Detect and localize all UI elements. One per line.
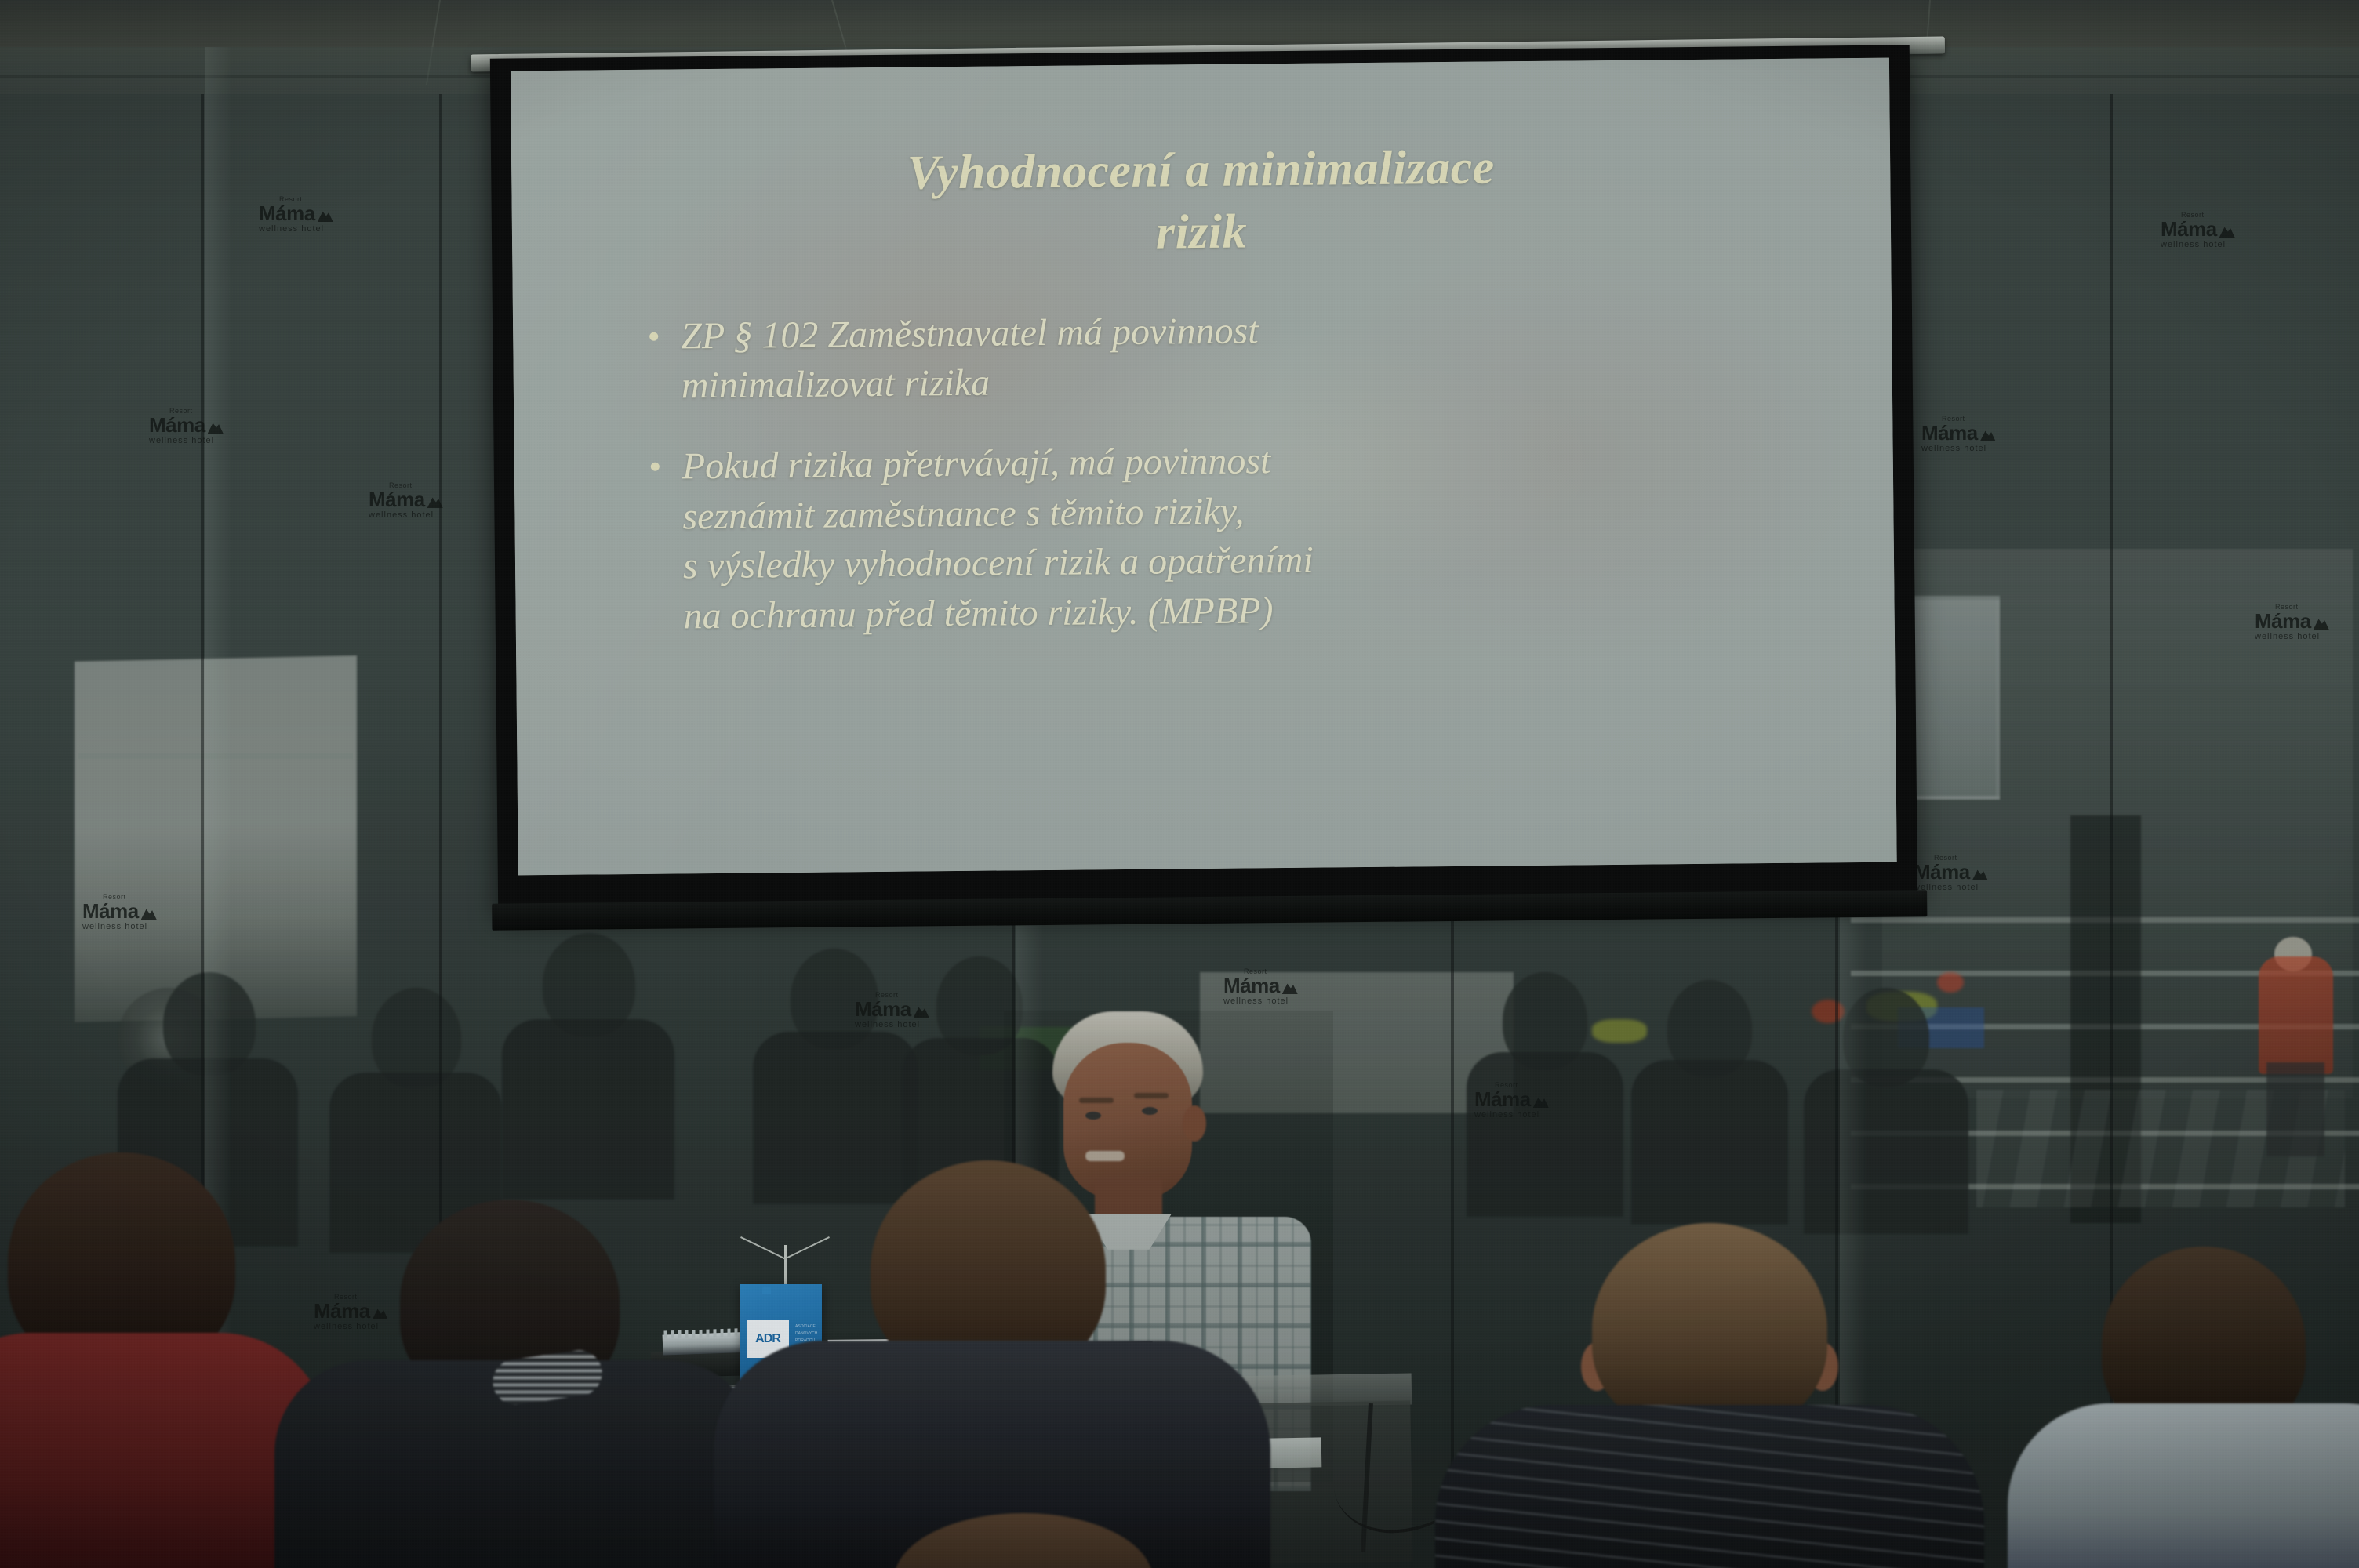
mountain-icon bbox=[1972, 866, 1988, 880]
hotel-logo-name: Máma bbox=[149, 415, 205, 435]
slide-bullet: ZP § 102 Zaměstnavatel má povinnost mini… bbox=[645, 301, 1775, 412]
hotel-logo-name: Máma bbox=[259, 203, 315, 223]
slide-bullet: Pokud rizika přetrvávají, má povinnost s… bbox=[646, 431, 1777, 641]
mountain-icon bbox=[318, 208, 333, 222]
hotel-logo-top-text: Resort bbox=[1942, 416, 1996, 423]
hotel-logo-name: Máma bbox=[369, 489, 425, 510]
audience-head bbox=[1592, 1223, 1827, 1435]
screen-surface: Vyhodnocení a minimalizace rizik ZP § 10… bbox=[511, 58, 1897, 876]
audience-body bbox=[2008, 1403, 2359, 1568]
hotel-logo-subtitle: wellness hotel bbox=[855, 1021, 929, 1029]
reflection-window bbox=[1906, 596, 2000, 800]
hotel-logo-name: Máma bbox=[855, 999, 911, 1019]
mountain-icon bbox=[141, 906, 157, 920]
reflection-paving bbox=[1976, 1090, 2345, 1207]
mountain-icon bbox=[1533, 1094, 1549, 1108]
reflection-pedestrian-legs bbox=[2266, 1062, 2324, 1156]
slide-title-line-2: rizik bbox=[630, 196, 1774, 269]
reflection-stair-rail bbox=[1851, 971, 2359, 976]
mountain-icon bbox=[2314, 615, 2329, 630]
hotel-logo-etching: Resort Máma wellness hotel bbox=[259, 196, 333, 234]
reflection-pedestrian-head bbox=[2274, 937, 2312, 971]
hotel-logo-name: Máma bbox=[1223, 975, 1280, 996]
hotel-logo-etching: Resort Máma wellness hotel bbox=[1223, 968, 1298, 1006]
hotel-logo-etching: Resort Máma wellness hotel bbox=[2255, 604, 2329, 641]
hotel-logo-etching: Resort Máma wellness hotel bbox=[1921, 416, 1996, 453]
hotel-logo-name: Máma bbox=[1474, 1089, 1531, 1109]
hotel-logo-etching: Resort Máma wellness hotel bbox=[855, 992, 929, 1029]
hotel-logo-top-text: Resort bbox=[103, 894, 157, 901]
mountain-icon bbox=[208, 419, 224, 434]
hotel-logo-top-text: Resort bbox=[169, 408, 224, 415]
hotel-logo-subtitle: wellness hotel bbox=[259, 225, 333, 234]
presentation-slide: Vyhodnocení a minimalizace rizik ZP § 10… bbox=[511, 58, 1897, 876]
hotel-logo-top-text: Resort bbox=[389, 482, 443, 489]
audience-body bbox=[1435, 1405, 1984, 1568]
hotel-logo-top-text: Resort bbox=[1934, 855, 1988, 862]
audience-member-blue-shirt bbox=[2008, 1239, 2359, 1568]
conference-room-photo: Resort Máma wellness hotel Resort Máma w… bbox=[0, 0, 2359, 1568]
reflection-stair-rail bbox=[1851, 917, 2359, 923]
hotel-logo-subtitle: wellness hotel bbox=[1223, 997, 1298, 1006]
audience-member-knit-jacket bbox=[259, 1200, 761, 1568]
mountain-icon bbox=[2219, 223, 2235, 238]
audience-member-partial bbox=[894, 1513, 1153, 1568]
hotel-logo-name: Máma bbox=[82, 901, 139, 921]
mountain-icon bbox=[1282, 980, 1298, 994]
hotel-logo-top-text: Resort bbox=[1495, 1082, 1549, 1089]
hotel-logo-top-text: Resort bbox=[1244, 968, 1298, 975]
audience-head bbox=[894, 1513, 1153, 1568]
hotel-logo-etching: Resort Máma wellness hotel bbox=[82, 894, 157, 931]
audience-silhouette bbox=[1631, 980, 1788, 1215]
audience-member-centre bbox=[706, 1160, 1270, 1568]
hotel-logo-etching: Resort Máma wellness hotel bbox=[149, 408, 224, 445]
hotel-logo-etching: Resort Máma wellness hotel bbox=[2161, 212, 2235, 249]
hotel-logo-subtitle: wellness hotel bbox=[1474, 1111, 1549, 1120]
hotel-logo-etching: Resort Máma wellness hotel bbox=[1474, 1082, 1549, 1120]
hotel-logo-top-text: Resort bbox=[2181, 212, 2235, 219]
hotel-logo-top-text: Resort bbox=[279, 196, 333, 203]
audience-silhouette bbox=[502, 933, 674, 1192]
hotel-logo-subtitle: wellness hotel bbox=[149, 437, 224, 445]
hotel-logo-top-text: Resort bbox=[875, 992, 929, 999]
audience-member-pinstripe bbox=[1435, 1223, 1984, 1568]
hotel-logo-subtitle: wellness hotel bbox=[369, 511, 443, 520]
hotel-logo-subtitle: wellness hotel bbox=[2255, 633, 2329, 641]
slide-title: Vyhodnocení a minimalizace rizik bbox=[629, 134, 1773, 270]
hotel-logo-etching: Resort Máma wellness hotel bbox=[1914, 855, 1988, 892]
hotel-logo-subtitle: wellness hotel bbox=[1921, 445, 1996, 453]
reflection-dark-column bbox=[2070, 815, 2141, 1223]
projection-screen: Vyhodnocení a minimalizace rizik ZP § 10… bbox=[490, 45, 1917, 913]
hotel-logo-name: Máma bbox=[2161, 219, 2217, 239]
mountain-icon bbox=[427, 494, 443, 508]
hotel-logo-etching: Resort Máma wellness hotel bbox=[369, 482, 443, 520]
slide-title-line-1: Vyhodnocení a minimalizace bbox=[629, 134, 1773, 207]
hotel-logo-subtitle: wellness hotel bbox=[82, 923, 157, 931]
hotel-logo-top-text: Resort bbox=[2275, 604, 2329, 611]
hotel-logo-name: Máma bbox=[1921, 423, 1978, 443]
mountain-icon bbox=[1980, 427, 1996, 441]
audience-silhouette bbox=[1804, 988, 1968, 1223]
slide-bullet-list: ZP § 102 Zaměstnavatel má povinnost mini… bbox=[631, 301, 1777, 641]
hotel-logo-subtitle: wellness hotel bbox=[2161, 241, 2235, 249]
hotel-logo-name: Máma bbox=[1914, 862, 1970, 882]
hotel-logo-name: Máma bbox=[2255, 611, 2311, 631]
mountain-icon bbox=[914, 1004, 929, 1018]
